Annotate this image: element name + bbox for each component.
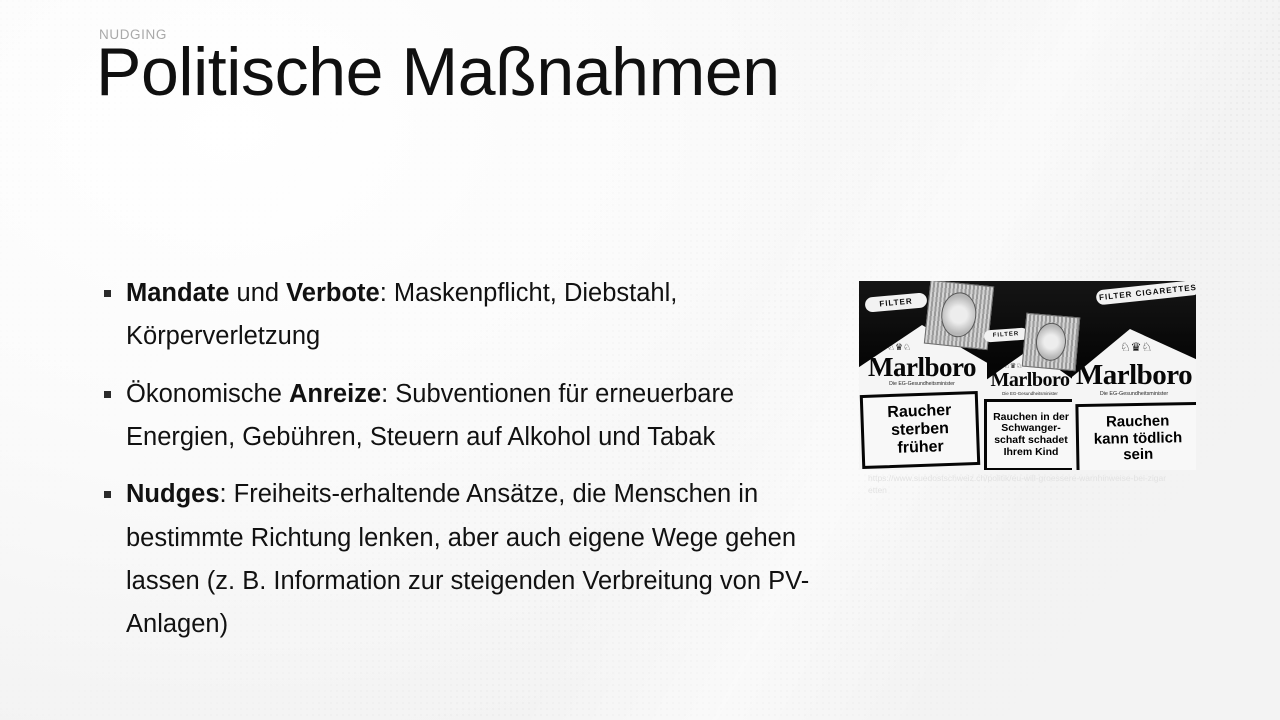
list-item-emphasis: Nudges xyxy=(126,480,220,508)
list-item: Nudges: Freiheits-erhaltende Ansätze, di… xyxy=(100,473,812,646)
bullet-list: Mandate und Verbote: Maskenpflicht, Dieb… xyxy=(100,272,812,647)
list-item: Ökonomische Anreize: Subventionen für er… xyxy=(100,373,812,460)
pack-right: ♘♛♘ Marlboro Die EG-Gesundheitsminister … xyxy=(1072,315,1196,470)
list-item-run: Ökonomische xyxy=(126,380,289,408)
pack-left-warning: Raucher sterben früher xyxy=(860,391,981,469)
list-item-emphasis: Mandate xyxy=(126,279,229,307)
pack-left-warning-line: früher xyxy=(888,438,953,458)
pack-left-warning-line: Raucher xyxy=(887,402,952,422)
slide-canvas: NUDGING Politische Maßnahmen Mandate und… xyxy=(0,0,1280,720)
pack-right-brand: Marlboro xyxy=(1074,359,1194,392)
list-item-text: Mandate und Verbote: Maskenpflicht, Dieb… xyxy=(126,279,677,350)
square-bullet-icon xyxy=(104,290,111,297)
cigarette-packs-figure: ♘♛♘ Marlboro Die EG-Gesundheitsminister … xyxy=(859,281,1196,470)
pack-right-warning-line: sein xyxy=(1094,447,1183,465)
list-item-text: Ökonomische Anreize: Subventionen für er… xyxy=(126,380,734,451)
pack-left-minister-line: Die EG-Gesundheitsminister xyxy=(863,381,981,387)
pack-left-crest-icon: ♘♛♘ xyxy=(881,343,917,352)
pack-middle-warning: Rauchen in der Schwanger- schaft schadet… xyxy=(984,399,1078,470)
pack-middle-filter-tab: FILTER xyxy=(984,327,1029,342)
list-item: Mandate und Verbote: Maskenpflicht, Dieb… xyxy=(100,272,812,359)
figure-source-caption: https://www.suedostschweiz.ch/politik/eu… xyxy=(868,472,1168,496)
list-item-emphasis: Anreize xyxy=(289,380,381,408)
pack-left: ♘♛♘ Marlboro Die EG-Gesundheitsminister … xyxy=(859,287,983,470)
square-bullet-icon xyxy=(104,391,111,398)
list-item-text: Nudges: Freiheits-erhaltende Ansätze, di… xyxy=(126,480,809,638)
square-bullet-icon xyxy=(104,491,111,498)
list-item-run: : Freiheits-erhaltende Ansätze, die Mens… xyxy=(126,480,809,638)
cigarette-packs-photo: ♘♛♘ Marlboro Die EG-Gesundheitsminister … xyxy=(859,281,1196,470)
pack-middle-warning-line: schaft schadet xyxy=(993,435,1069,447)
pack-left-brand: Marlboro xyxy=(863,352,981,383)
pack-middle-minister-line: Die EG-Gesundheitsminister xyxy=(982,391,1078,396)
pack-right-minister-line: Die EG-Gesundheitsminister xyxy=(1074,391,1194,397)
pack-middle-brand: Marlboro xyxy=(982,369,1078,392)
list-item-emphasis: Verbote xyxy=(286,279,380,307)
page-title: Politische Maßnahmen xyxy=(96,36,780,109)
pack-left-warning-line: sterben xyxy=(888,420,953,440)
pack-right-warning: Rauchen kann tödlich sein xyxy=(1075,402,1196,470)
list-item-run: und xyxy=(229,279,286,307)
pack-right-crest-icon: ♘♛♘ xyxy=(1114,341,1158,353)
pack-left-filter-tab: FILTER xyxy=(864,292,927,312)
pack-middle: ♘♛♘ Marlboro Die EG-Gesundheitsminister … xyxy=(982,303,1078,470)
pack-middle-warning-line: Ihrem Kind xyxy=(993,447,1069,459)
